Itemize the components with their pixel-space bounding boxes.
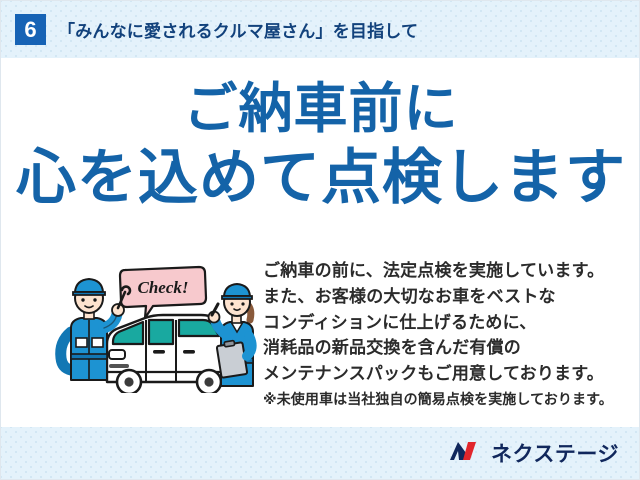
- headline-line-1: ご納車前に: [1, 80, 640, 138]
- header: 6 「みんなに愛されるクルマ屋さん」を目指して: [1, 1, 418, 58]
- body-note: ※未使用車は当社独自の簡易点検を実施しております。: [263, 389, 633, 410]
- check-bubble-label: Check!: [138, 278, 189, 297]
- mechanics-illustration: Check!: [49, 258, 261, 393]
- body-line: ご納車の前に、法定点検を実施しています。: [263, 258, 633, 284]
- body-copy: ご納車の前に、法定点検を実施しています。 また、お客様の大切なお車をベストな コ…: [263, 258, 633, 410]
- nextage-n-mark-icon: [448, 439, 482, 468]
- header-title: 「みんなに愛されるクルマ屋さん」を目指して: [58, 17, 418, 42]
- headline-line-2: 心を込めて点検します: [1, 146, 640, 211]
- van-graphic: [107, 315, 229, 393]
- headline-block: ご納車前に 心を込めて点検します: [1, 80, 640, 211]
- brand-logo: ネクステージ: [448, 427, 619, 479]
- advertisement-page: 6 「みんなに愛されるクルマ屋さん」を目指して ご納車前に 心を込めて点検します: [0, 0, 640, 480]
- section-number-badge: 6: [15, 14, 46, 45]
- body-line: 消耗品の新品交換を含んだ有償の: [263, 335, 633, 361]
- brand-wordmark: ネクステージ: [491, 438, 619, 468]
- body-line: コンディションに仕上げるために、: [263, 310, 633, 336]
- body-line: また、お客様の大切なお車をベストな: [263, 284, 633, 310]
- content-panel: ご納車前に 心を込めて点検します: [1, 58, 640, 429]
- footer-band: ネクステージ: [1, 427, 640, 479]
- body-line: メンテナンスパックもご用意しております。: [263, 361, 633, 387]
- check-speech-bubble: Check!: [120, 267, 206, 318]
